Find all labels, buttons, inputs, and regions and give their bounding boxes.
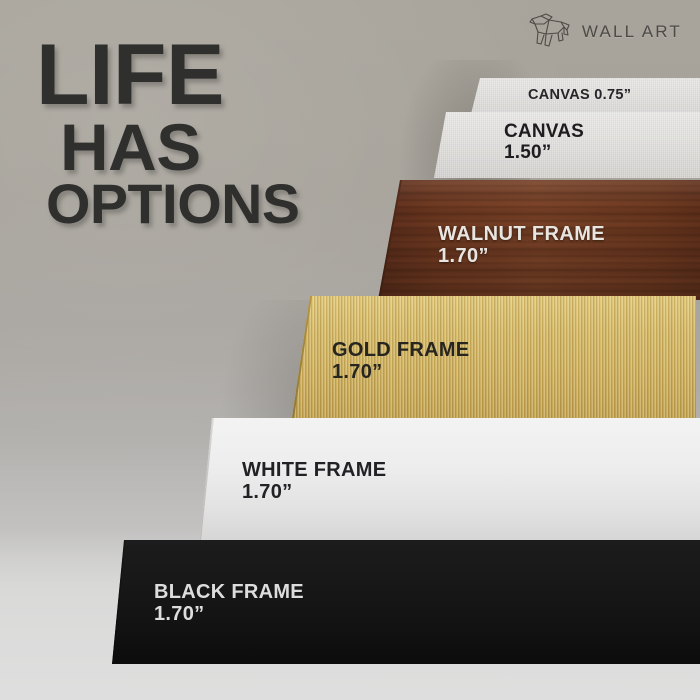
goat-origami-icon	[528, 13, 574, 51]
option-slab-black-frame[interactable]: BLACK FRAME 1.70”	[112, 540, 700, 664]
brand-logo: WALL ART	[528, 13, 682, 51]
option-label-white-frame: WHITE FRAME 1.70”	[242, 460, 386, 503]
option-label-black-frame: BLACK FRAME 1.70”	[154, 582, 304, 625]
headline-line-1: LIFE	[36, 38, 403, 114]
headline-line-3: OPTIONS	[46, 179, 403, 228]
option-label-canvas-075: CANVAS 0.75”	[528, 88, 631, 104]
option-label-walnut-frame: WALNUT FRAME 1.70”	[438, 224, 605, 267]
option-slab-canvas-150[interactable]: CANVAS 1.50”	[432, 112, 700, 178]
headline-block: LIFE HAS OPTIONS	[36, 38, 396, 228]
option-slab-gold-frame[interactable]: GOLD FRAME 1.70”	[292, 296, 696, 418]
headline-line-2: HAS	[60, 118, 403, 176]
option-slab-white-frame[interactable]: WHITE FRAME 1.70”	[200, 418, 700, 540]
brand-name: WALL ART	[582, 22, 682, 42]
option-label-gold-frame: GOLD FRAME 1.70”	[332, 340, 469, 383]
option-label-canvas-150: CANVAS 1.50”	[504, 122, 584, 163]
product-options-banner: LIFE HAS OPTIONS WALL ART CANVAS 0.75”	[0, 0, 700, 700]
option-slab-walnut-frame[interactable]: WALNUT FRAME 1.70”	[378, 180, 700, 300]
